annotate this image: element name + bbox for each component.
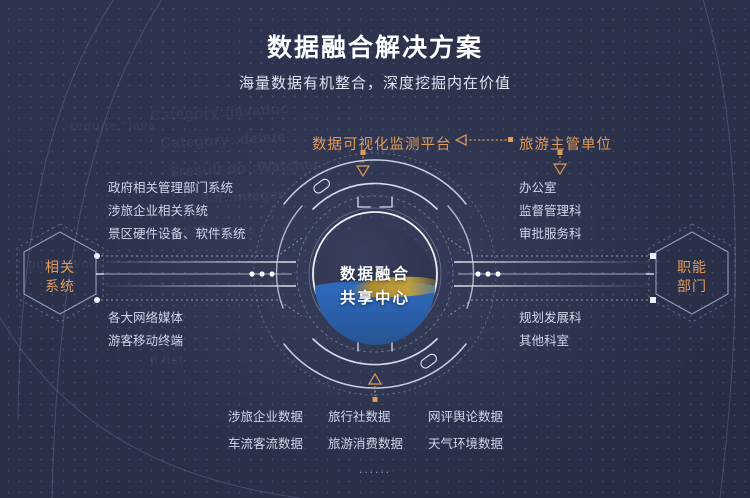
list-item: 涉旅企业相关系统	[108, 200, 246, 223]
core-label-line2: 共享中心	[340, 286, 410, 308]
background-watermark: p.list	[150, 352, 183, 367]
list-item: 天气环境数据	[428, 433, 528, 452]
authority-to-platform-arrow	[456, 135, 513, 145]
data-sources-up-connector	[369, 374, 381, 402]
list-item: 旅行社数据	[328, 406, 428, 425]
label-visualization-platform: 数据可视化监测平台	[312, 133, 452, 154]
list-item: 涉旅企业数据	[228, 406, 328, 425]
list-item: 监督管理科	[519, 200, 582, 223]
right-top-department-list: 办公室 监督管理科 审批服务科	[519, 177, 582, 246]
hexagon-label-line2: 部门	[649, 277, 735, 296]
bottom-data-source-grid: 涉旅企业数据 旅行社数据 网评舆论数据 车流客流数据 旅游消费数据 天气环境数据	[228, 406, 528, 452]
left-top-system-list: 政府相关管理部门系统 涉旅企业相关系统 景区硬件设备、软件系统	[108, 177, 246, 246]
list-item: 政府相关管理部门系统	[108, 177, 246, 200]
list-item: 各大网络媒体	[108, 307, 183, 330]
hexagon-label-functional-departments: 职能 部门	[649, 258, 735, 296]
list-item: 规划发展科	[519, 307, 582, 330]
hexagon-label-related-systems: 相关 系统	[17, 258, 103, 296]
list-item: 游客移动终端	[108, 330, 183, 353]
right-bottom-department-list: 规划发展科 其他科室	[519, 307, 582, 353]
infographic-canvas: Category::javadoc Category::delete $resu…	[0, 0, 750, 498]
list-item: 审批服务科	[519, 223, 582, 246]
background-watermark: Category::delete	[160, 129, 287, 153]
list-item: 景区硬件设备、软件系统	[108, 223, 246, 246]
core-label: 数据融合 共享中心	[315, 225, 435, 345]
background-watermark: Category::javadoc	[150, 100, 290, 124]
list-item: 其他科室	[519, 330, 582, 353]
list-item: 网评舆论数据	[428, 406, 528, 425]
page-title: 数据融合解决方案	[0, 28, 750, 64]
list-item: 旅游消费数据	[328, 433, 428, 452]
hexagon-label-line2: 系统	[17, 277, 103, 296]
right-connector-bus	[448, 238, 656, 316]
page-subtitle: 海量数据有机整合，深度挖掘内在价值	[0, 72, 750, 93]
bottom-ellipsis: ......	[0, 462, 750, 476]
left-connector-bus	[94, 238, 302, 316]
core-label-line1: 数据融合	[340, 262, 410, 284]
data-fusion-core: 数据融合 共享中心	[315, 225, 435, 345]
hexagon-label-line1: 职能	[649, 258, 735, 277]
hexagon-label-line1: 相关	[17, 258, 103, 277]
list-item: 车流客流数据	[228, 433, 328, 452]
left-bottom-system-list: 各大网络媒体 游客移动终端	[108, 307, 183, 353]
list-item: 办公室	[519, 177, 582, 200]
label-tourism-authority: 旅游主管单位	[519, 133, 612, 154]
background-watermark: require "java	[70, 118, 156, 133]
